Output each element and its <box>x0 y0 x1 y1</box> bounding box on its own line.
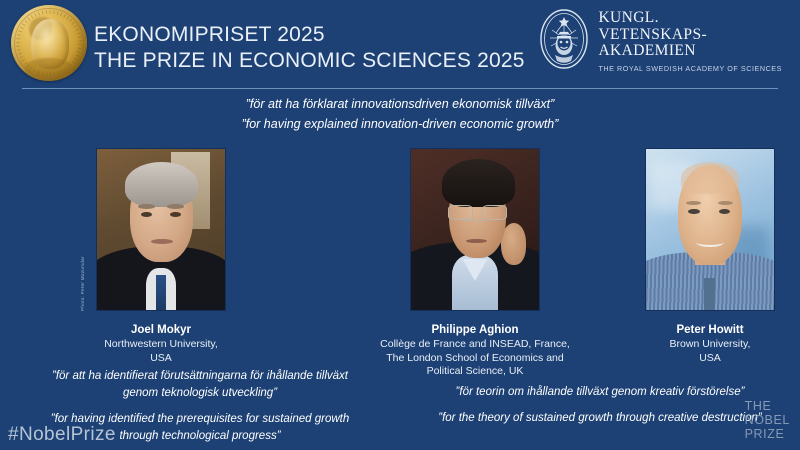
laureate-affiliation-line-1: Collège de France and INSEAD, France, <box>330 338 620 352</box>
header: EKONOMIPRISET 2025 THE PRIZE IN ECONOMIC… <box>0 0 800 88</box>
watermark-line-3: PRIZE <box>745 427 790 441</box>
royal-academy-seal-icon <box>538 8 590 70</box>
title-line-english: THE PRIZE IN ECONOMIC SCIENCES 2025 <box>94 48 525 74</box>
laureate-affiliation-line-2: The London School of Economics and <box>330 352 620 366</box>
shared-citation-english: ”for having explained innovation-driven … <box>0 114 800 134</box>
laureate-affiliation-line-1: Northwestern University, <box>26 338 296 352</box>
laureate-affiliation-line-1: Brown University, <box>620 338 800 352</box>
watermark-line-2: NOBEL <box>745 413 790 427</box>
citation-aghion-howitt: ”för teorin om ihållande tillväxt genom … <box>400 384 800 427</box>
shared-citation-swedish: ”för att ha förklarat innovationsdriven … <box>0 94 800 114</box>
academy-line-2: VETENSKAPS- <box>598 27 782 44</box>
citation-aghion-howitt-swedish: ”för teorin om ihållande tillväxt genom … <box>400 384 800 401</box>
avatar <box>96 148 226 311</box>
academy-line-1: KUNGL. <box>598 10 782 27</box>
laureate-name: Joel Mokyr <box>26 323 296 338</box>
academy-line-3: AKADEMIEN <box>598 43 782 60</box>
laureate-card-peter-howitt: Peter Howitt Brown University, USA <box>620 148 800 365</box>
nobel-medal-icon <box>11 5 87 81</box>
citation-aghion-howitt-english: ”for the theory of sustained growth thro… <box>400 410 800 427</box>
citation-mokyr-swedish-1: ”för att ha identifierat förutsättningar… <box>0 368 400 385</box>
avatar <box>645 148 775 311</box>
laureates-row: Photo: Peter Mozumdar Joel Mokyr Northwe… <box>0 148 800 368</box>
shared-citation: ”för att ha förklarat innovationsdriven … <box>0 94 800 134</box>
academy-wordmark: KUNGL. VETENSKAPS- AKADEMIEN THE ROYAL S… <box>598 8 782 73</box>
academy-subtitle: THE ROYAL SWEDISH ACADEMY OF SCIENCES <box>598 64 782 73</box>
photo-wrap <box>410 148 540 311</box>
watermark-line-1: THE <box>745 399 790 413</box>
laureate-card-philippe-aghion: Philippe Aghion Collège de France and IN… <box>330 148 620 379</box>
laureate-affiliation-line-2: USA <box>26 352 296 366</box>
academy-logo: KUNGL. VETENSKAPS- AKADEMIEN THE ROYAL S… <box>538 8 782 73</box>
photo-credit: Photo: Peter Mozumdar <box>80 256 85 311</box>
photo-wrap <box>645 148 775 311</box>
hashtag-overlay: #NobelPrize <box>8 424 116 446</box>
laureate-affiliation-line-2: USA <box>620 352 800 366</box>
laureate-name: Philippe Aghion <box>330 323 620 338</box>
page-title: EKONOMIPRISET 2025 THE PRIZE IN ECONOMIC… <box>94 22 525 74</box>
header-divider <box>22 88 778 89</box>
laureate-card-joel-mokyr: Photo: Peter Mozumdar Joel Mokyr Northwe… <box>26 148 296 365</box>
citation-mokyr-swedish-2: genom teknologisk utveckling” <box>0 385 400 402</box>
medal-portrait-shoulder <box>25 58 74 78</box>
nobel-prize-watermark: THE NOBEL PRIZE <box>745 399 790 441</box>
avatar <box>410 148 540 311</box>
title-line-swedish: EKONOMIPRISET 2025 <box>94 22 525 48</box>
laureate-name: Peter Howitt <box>620 323 800 338</box>
photo-wrap: Photo: Peter Mozumdar <box>96 148 226 311</box>
